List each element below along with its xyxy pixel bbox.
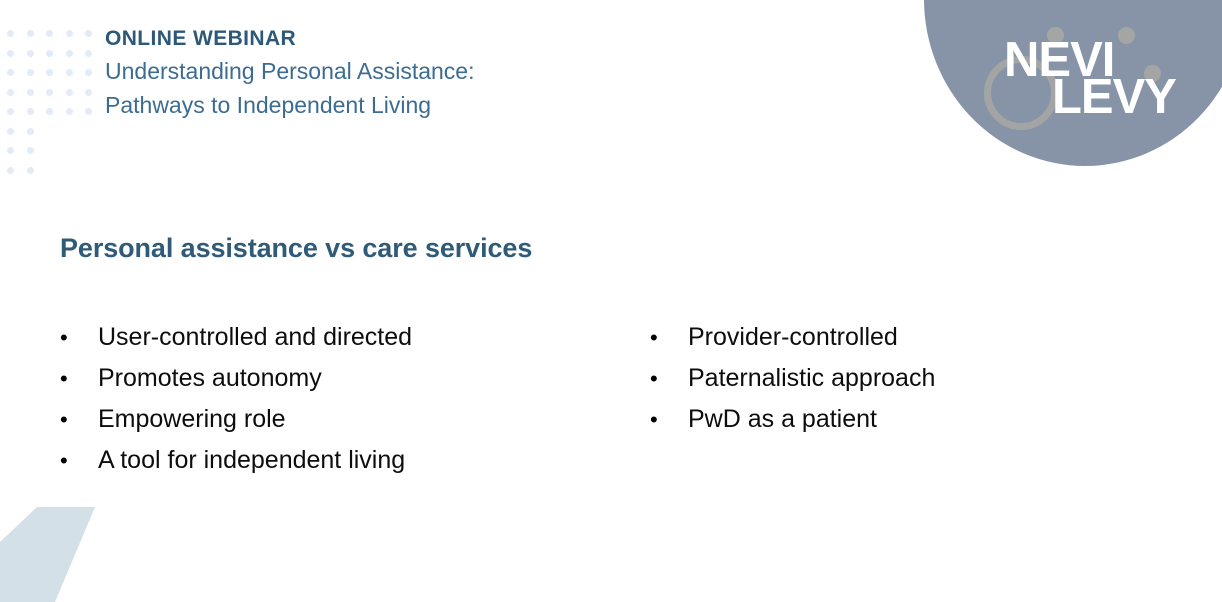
brand-logo: NEVI LEVY bbox=[922, 0, 1222, 170]
decorative-dot bbox=[7, 147, 14, 154]
decorative-dot bbox=[7, 167, 14, 174]
decorative-dot bbox=[85, 69, 92, 76]
decorative-dot bbox=[66, 50, 73, 57]
bullet-marker-icon: • bbox=[60, 368, 98, 390]
logo-wordmark-bottom: LEVY bbox=[1052, 73, 1176, 122]
bullet-item-label: User-controlled and directed bbox=[98, 325, 412, 350]
webinar-eyebrow-label: ONLINE WEBINAR bbox=[105, 27, 865, 52]
logo-dot-icon-2 bbox=[1118, 27, 1135, 44]
decorative-dot bbox=[46, 108, 53, 115]
decorative-dot bbox=[27, 147, 34, 154]
decorative-dot bbox=[27, 30, 34, 37]
bullet-item-label: Provider-controlled bbox=[688, 325, 898, 350]
webinar-subtitle-line-2: Pathways to Independent Living bbox=[105, 88, 865, 123]
decorative-dot bbox=[85, 30, 92, 37]
decorative-dot bbox=[27, 128, 34, 135]
webinar-slide: ONLINE WEBINAR Understanding Personal As… bbox=[0, 0, 1222, 602]
bullet-item: •Promotes autonomy bbox=[60, 366, 580, 407]
decorative-dot-grid bbox=[0, 22, 110, 182]
webinar-subtitle-line-1: Understanding Personal Assistance: bbox=[105, 54, 865, 89]
bullet-marker-icon: • bbox=[60, 327, 98, 349]
decorative-dot bbox=[7, 30, 14, 37]
decorative-dot bbox=[7, 69, 14, 76]
decorative-dot bbox=[7, 50, 14, 57]
bullet-item-label: Empowering role bbox=[98, 407, 286, 432]
bullet-marker-icon: • bbox=[60, 450, 98, 472]
bullet-item: •PwD as a patient bbox=[650, 407, 1120, 448]
slide-header: ONLINE WEBINAR Understanding Personal As… bbox=[105, 27, 865, 123]
bullet-item-label: PwD as a patient bbox=[688, 407, 877, 432]
bullet-item: •Empowering role bbox=[60, 407, 580, 448]
bullet-item-label: Promotes autonomy bbox=[98, 366, 322, 391]
decorative-dot bbox=[46, 69, 53, 76]
decorative-dot bbox=[85, 108, 92, 115]
bullet-marker-icon: • bbox=[650, 327, 688, 349]
bullet-marker-icon: • bbox=[650, 368, 688, 390]
bullet-column-left: •User-controlled and directed•Promotes a… bbox=[60, 325, 580, 489]
corner-shape-polygon bbox=[0, 507, 95, 602]
decorative-dot bbox=[66, 69, 73, 76]
bullet-item-label: Paternalistic approach bbox=[688, 366, 935, 391]
webinar-subtitle: Understanding Personal Assistance: Pathw… bbox=[105, 54, 865, 123]
bullet-item-label: A tool for independent living bbox=[98, 448, 405, 473]
decorative-dot bbox=[7, 89, 14, 96]
decorative-dot bbox=[27, 50, 34, 57]
decorative-dot bbox=[7, 128, 14, 135]
bullet-column-right: •Provider-controlled•Paternalistic appro… bbox=[650, 325, 1120, 448]
decorative-dot bbox=[66, 89, 73, 96]
decorative-dot bbox=[85, 89, 92, 96]
bullet-item: •A tool for independent living bbox=[60, 448, 580, 489]
decorative-dot bbox=[27, 167, 34, 174]
decorative-dot bbox=[46, 89, 53, 96]
decorative-corner-shape bbox=[0, 472, 110, 602]
bullet-item: •User-controlled and directed bbox=[60, 325, 580, 366]
decorative-dot bbox=[27, 69, 34, 76]
decorative-dot bbox=[27, 108, 34, 115]
decorative-dot bbox=[27, 89, 34, 96]
bullet-marker-icon: • bbox=[60, 409, 98, 431]
section-heading: Personal assistance vs care services bbox=[60, 233, 532, 264]
bullet-item: •Provider-controlled bbox=[650, 325, 1120, 366]
decorative-dot bbox=[46, 50, 53, 57]
decorative-dot bbox=[85, 50, 92, 57]
bullet-item: •Paternalistic approach bbox=[650, 366, 1120, 407]
decorative-dot bbox=[46, 30, 53, 37]
decorative-dot bbox=[66, 108, 73, 115]
decorative-dot bbox=[66, 30, 73, 37]
bullet-marker-icon: • bbox=[650, 409, 688, 431]
decorative-dot bbox=[7, 108, 14, 115]
